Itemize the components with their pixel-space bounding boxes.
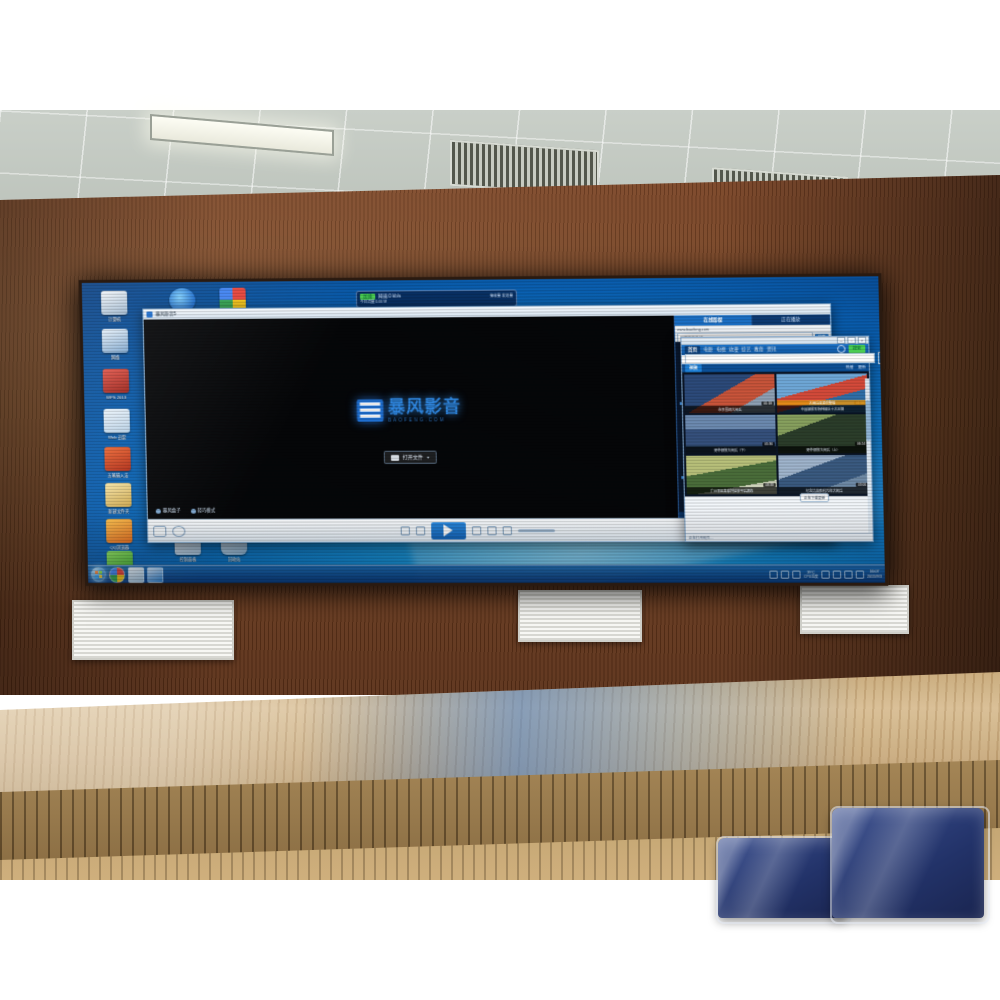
cpu-temp-label: CPU温度: [804, 574, 819, 578]
baofeng-logo-text: 暴风影音: [388, 398, 462, 416]
playlist-icon[interactable]: [400, 526, 409, 535]
status-text: 正在打开网页…: [689, 535, 714, 540]
playlist-url-value: www.baofeng.com: [677, 327, 709, 331]
sort-new[interactable]: 更新: [858, 365, 866, 370]
start-button[interactable]: [91, 567, 106, 582]
taskbar-item-browser[interactable]: [109, 566, 125, 582]
baofeng-box-label: 暴风盒子: [163, 508, 181, 514]
desktop-icon-label: 五笔输入法: [98, 473, 138, 478]
gadget-right-labels: 接收量 发送量: [490, 293, 513, 298]
computer-icon: [101, 291, 128, 315]
video-thumbnail-grid: 01:18 市民围观大阅兵 01:56 大阅兵高清完整版 中国解放军特种部队十大…: [682, 371, 872, 496]
baofeng-box-link[interactable]: 暴风盒子: [156, 508, 181, 514]
system-tray[interactable]: 39°C CPU温度 16:07 2015/9/3: [769, 570, 882, 579]
desktop-icon-label: QQ浏览器: [99, 545, 139, 550]
desktop-icon-computer[interactable]: 计算机: [94, 291, 135, 322]
desktop-icon-label: 回收站: [214, 557, 254, 562]
light-mode-label: 轻巧模式: [198, 508, 216, 514]
tray-icon-thunder[interactable]: [856, 570, 865, 578]
tray-icon-360[interactable]: [844, 570, 853, 578]
windows-desktop[interactable]: 计算机 网络 WPS 2013 Web 迅雷 五笔输入法 新建文件夹: [82, 276, 885, 583]
baofeng-mark-icon: [356, 399, 383, 421]
screenshot-icon[interactable]: [153, 525, 166, 536]
volume-slider[interactable]: [518, 529, 555, 532]
tab-online-video[interactable]: 在线影视: [675, 315, 753, 326]
taskbar-clock[interactable]: 16:07 2015/9/3: [867, 570, 882, 579]
stop-icon[interactable]: [487, 526, 496, 535]
desktop-icon-label: WPS 2013: [96, 395, 136, 400]
open-file-label: 打开文件: [403, 454, 424, 461]
prev-icon[interactable]: [472, 526, 481, 535]
maximize-button[interactable]: □: [847, 337, 855, 344]
video-portal-browser-window[interactable]: — □ ✕ 首页 电影 电视 动漫 综艺 教育 资讯 搜索: [680, 336, 873, 543]
desktop-icon-label: 新建文件夹: [99, 509, 139, 514]
clock-date: 2015/9/3: [867, 574, 882, 579]
chair-right-wrap: [830, 806, 990, 924]
video-thumbnail[interactable]: 06:24 野外解放大阅兵（上）: [777, 414, 868, 453]
ime-icon: [104, 447, 131, 471]
address-input[interactable]: [685, 353, 875, 364]
photo-scene: 计算机 网络 WPS 2013 Web 迅雷 五笔输入法 新建文件夹: [0, 0, 1000, 1000]
play-icon: [444, 524, 453, 536]
open-file-button[interactable]: 打开文件 ▾: [383, 451, 436, 464]
qq-browser-icon: [106, 519, 133, 543]
player-window-title: 暴风影音5: [155, 311, 176, 317]
tray-icon-shield[interactable]: [792, 570, 800, 578]
video-thumbnail[interactable]: 01:56 大阅兵高清完整版 中国解放军特种部队十大王牌: [776, 373, 867, 412]
chevron-down-icon[interactable]: ▾: [427, 455, 429, 460]
taskbar-item-player[interactable]: [147, 566, 163, 582]
minimize-button[interactable]: —: [837, 337, 845, 344]
baofeng-logo-sub: BAOFENG.COM: [388, 417, 461, 422]
box-icon: [156, 508, 161, 513]
tab-tv[interactable]: 电视: [716, 347, 726, 353]
wall-vent-right: [800, 585, 909, 634]
update-tooltip: 正在下载更新: [800, 493, 830, 502]
baofeng-logo: 暴风影音 BAOFENG.COM: [356, 398, 461, 423]
thumbnail-caption: 野外解放大阅兵（下）: [686, 446, 776, 453]
desktop-icon-qqbrowser[interactable]: QQ浏览器: [99, 519, 140, 550]
player-window-icon: [146, 311, 152, 317]
desktop-icon-label: Web 迅雷: [97, 435, 137, 440]
tab-anime[interactable]: 动漫: [729, 347, 739, 353]
gadget-traffic: 今日流量 0.00 M: [360, 299, 513, 305]
desktop-icon-label: 计算机: [94, 317, 134, 322]
network-icon: [102, 329, 129, 353]
video-thumbnail[interactable]: 08:38 广州军区某部外挂装甲兵演练: [686, 455, 777, 494]
thumbnail-caption: 野外解放大阅兵（上）: [778, 446, 869, 453]
play-button[interactable]: [431, 522, 466, 539]
eye-icon[interactable]: [172, 525, 185, 536]
wall-vent-left: [72, 600, 234, 660]
folder-icon: [105, 483, 132, 507]
desktop-icon-label: 控制面板: [168, 557, 208, 562]
section-tag: 视频: [685, 364, 702, 372]
video-thumbnail[interactable]: 01:18 市民围观大阅兵: [684, 374, 775, 413]
folder-icon: [390, 454, 398, 460]
video-bottom-links: 暴风盒子 轻巧模式: [156, 508, 216, 514]
video-canvas[interactable]: 暴风影音 BAOFENG.COM 打开文件 ▾: [144, 316, 679, 520]
thunder-icon: [103, 409, 130, 433]
wall-vent-center: [518, 590, 642, 642]
desktop-icon-webthunder[interactable]: Web 迅雷: [96, 409, 137, 440]
tab-news[interactable]: 资讯: [767, 346, 777, 352]
desktop-icon-folder[interactable]: 新建文件夹: [98, 483, 139, 514]
tab-movie[interactable]: 电影: [703, 347, 713, 353]
desktop-icon-wps[interactable]: WPS 2013: [96, 369, 137, 400]
browser-address-bar[interactable]: 转到: [682, 354, 869, 364]
tab-education[interactable]: 教育: [754, 347, 764, 353]
tray-icon-volume[interactable]: [781, 570, 789, 578]
scrollbar-thumb[interactable]: [865, 400, 870, 440]
tray-icon-ime[interactable]: [821, 570, 830, 578]
thumbnail-caption: 市民围观大阅兵: [685, 406, 775, 414]
next-icon[interactable]: [416, 526, 425, 535]
windows-taskbar[interactable]: 39°C CPU温度 16:07 2015/9/3: [88, 564, 885, 583]
thumbnail-caption: 中国解放军特种部队十大王牌: [777, 405, 868, 413]
volume-icon[interactable]: [502, 526, 511, 535]
browser-status-bar: 正在打开网页…: [686, 533, 873, 541]
tray-icon-network[interactable]: [769, 570, 777, 578]
tray-icon-qq[interactable]: [833, 570, 842, 578]
close-button[interactable]: ✕: [858, 337, 867, 344]
cpu-temp-widget[interactable]: 39°C CPU温度: [804, 570, 819, 578]
thumbnail-caption: 广州军区某部外挂装甲兵演练: [687, 487, 777, 494]
refresh-icon: [190, 508, 195, 513]
gear-icon[interactable]: [837, 345, 846, 353]
desktop-icon-network[interactable]: 网络: [95, 329, 136, 360]
tab-home[interactable]: 首页: [685, 346, 701, 354]
tab-variety[interactable]: 综艺: [741, 347, 751, 353]
sort-hot[interactable]: 热播: [846, 365, 854, 370]
video-thumbnail[interactable]: 03:06 纪念抗战胜利70年大阅兵: [778, 455, 869, 494]
desktop-icon-wubi[interactable]: 五笔输入法: [97, 447, 138, 478]
wps-icon: [103, 369, 130, 393]
video-thumbnail[interactable]: 05:36 野外解放大阅兵（下）: [685, 415, 776, 454]
tab-now-playing[interactable]: 正在播放: [752, 314, 830, 325]
search-button[interactable]: 搜索: [849, 345, 866, 353]
taskbar-item-folder[interactable]: [128, 566, 144, 582]
desktop-icon-label: 网络: [95, 355, 135, 360]
led-video-wall: 计算机 网络 WPS 2013 Web 迅雷 五笔输入法 新建文件夹: [79, 273, 889, 586]
light-mode-link[interactable]: 轻巧模式: [190, 508, 215, 514]
